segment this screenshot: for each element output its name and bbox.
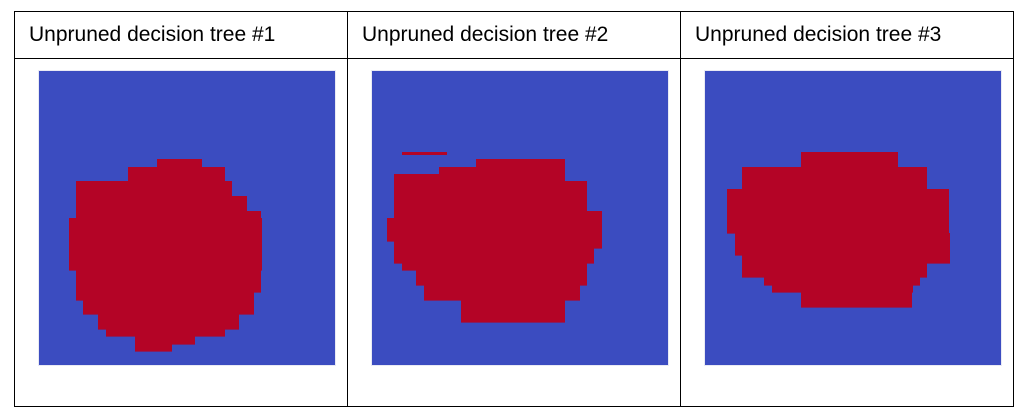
column-header-tree-1: Unpruned decision tree #1	[15, 12, 348, 59]
table-body	[15, 59, 1014, 407]
plot-wrapper-tree-1	[15, 59, 347, 406]
decision-tree-comparison-table: Unpruned decision tree #1 Unpruned decis…	[14, 11, 1014, 407]
decision-boundary-plot-tree-3	[705, 71, 1001, 365]
header-row: Unpruned decision tree #1 Unpruned decis…	[15, 12, 1014, 59]
cell-plot-tree-2	[348, 59, 681, 407]
decision-boundary-plot-tree-1	[39, 71, 335, 365]
decision-boundary-plot-tree-2	[372, 71, 668, 365]
plot-wrapper-tree-3	[681, 59, 1013, 406]
table-row	[15, 59, 1014, 407]
plot-wrapper-tree-2	[348, 59, 680, 406]
column-header-tree-2: Unpruned decision tree #2	[348, 12, 681, 59]
cell-plot-tree-1	[15, 59, 348, 407]
cell-plot-tree-3	[681, 59, 1014, 407]
column-header-tree-3: Unpruned decision tree #3	[681, 12, 1014, 59]
figure-root: Unpruned decision tree #1 Unpruned decis…	[0, 0, 1028, 418]
table-header: Unpruned decision tree #1 Unpruned decis…	[15, 12, 1014, 59]
